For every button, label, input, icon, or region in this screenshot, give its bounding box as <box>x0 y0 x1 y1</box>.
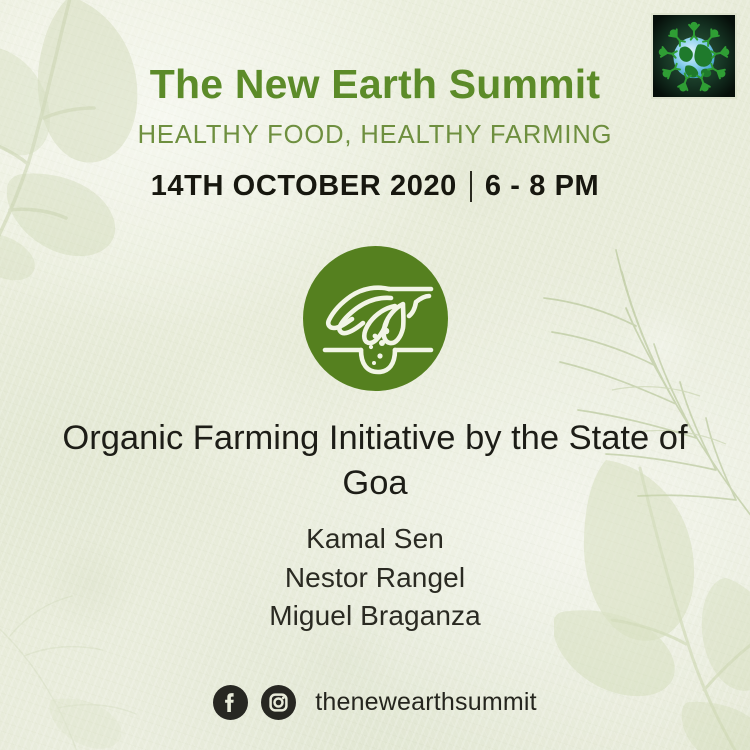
page-title: The New Earth Summit <box>0 62 750 108</box>
event-time: 6 - 8 PM <box>485 171 599 203</box>
talk-title: Organic Farming Initiative by the State … <box>54 416 696 506</box>
hand-sowing-seeds-icon <box>303 246 448 391</box>
facebook-icon[interactable] <box>213 685 248 720</box>
event-datetime: 14TH OCTOBER 2020 6 - 8 PM <box>0 171 750 203</box>
page-subtitle: HEALTHY FOOD, HEALTHY FARMING <box>0 121 750 149</box>
speaker-name: Miguel Braganza <box>54 597 696 635</box>
speaker-list: Kamal Sen Nestor Rangel Miguel Braganza <box>54 520 696 635</box>
social-footer: thenewearthsummit <box>0 685 750 720</box>
datetime-separator <box>470 171 472 202</box>
seal-badge <box>303 246 448 391</box>
poster-body: Organic Farming Initiative by the State … <box>54 416 696 635</box>
social-handle[interactable]: thenewearthsummit <box>315 688 537 717</box>
event-date: 14TH OCTOBER 2020 <box>151 171 457 203</box>
speaker-name: Nestor Rangel <box>54 559 696 597</box>
event-poster: The New Earth Summit HEALTHY FOOD, HEALT… <box>0 0 750 750</box>
speaker-name: Kamal Sen <box>54 520 696 558</box>
poster-header: The New Earth Summit HEALTHY FOOD, HEALT… <box>0 62 750 203</box>
instagram-icon[interactable] <box>261 685 296 720</box>
